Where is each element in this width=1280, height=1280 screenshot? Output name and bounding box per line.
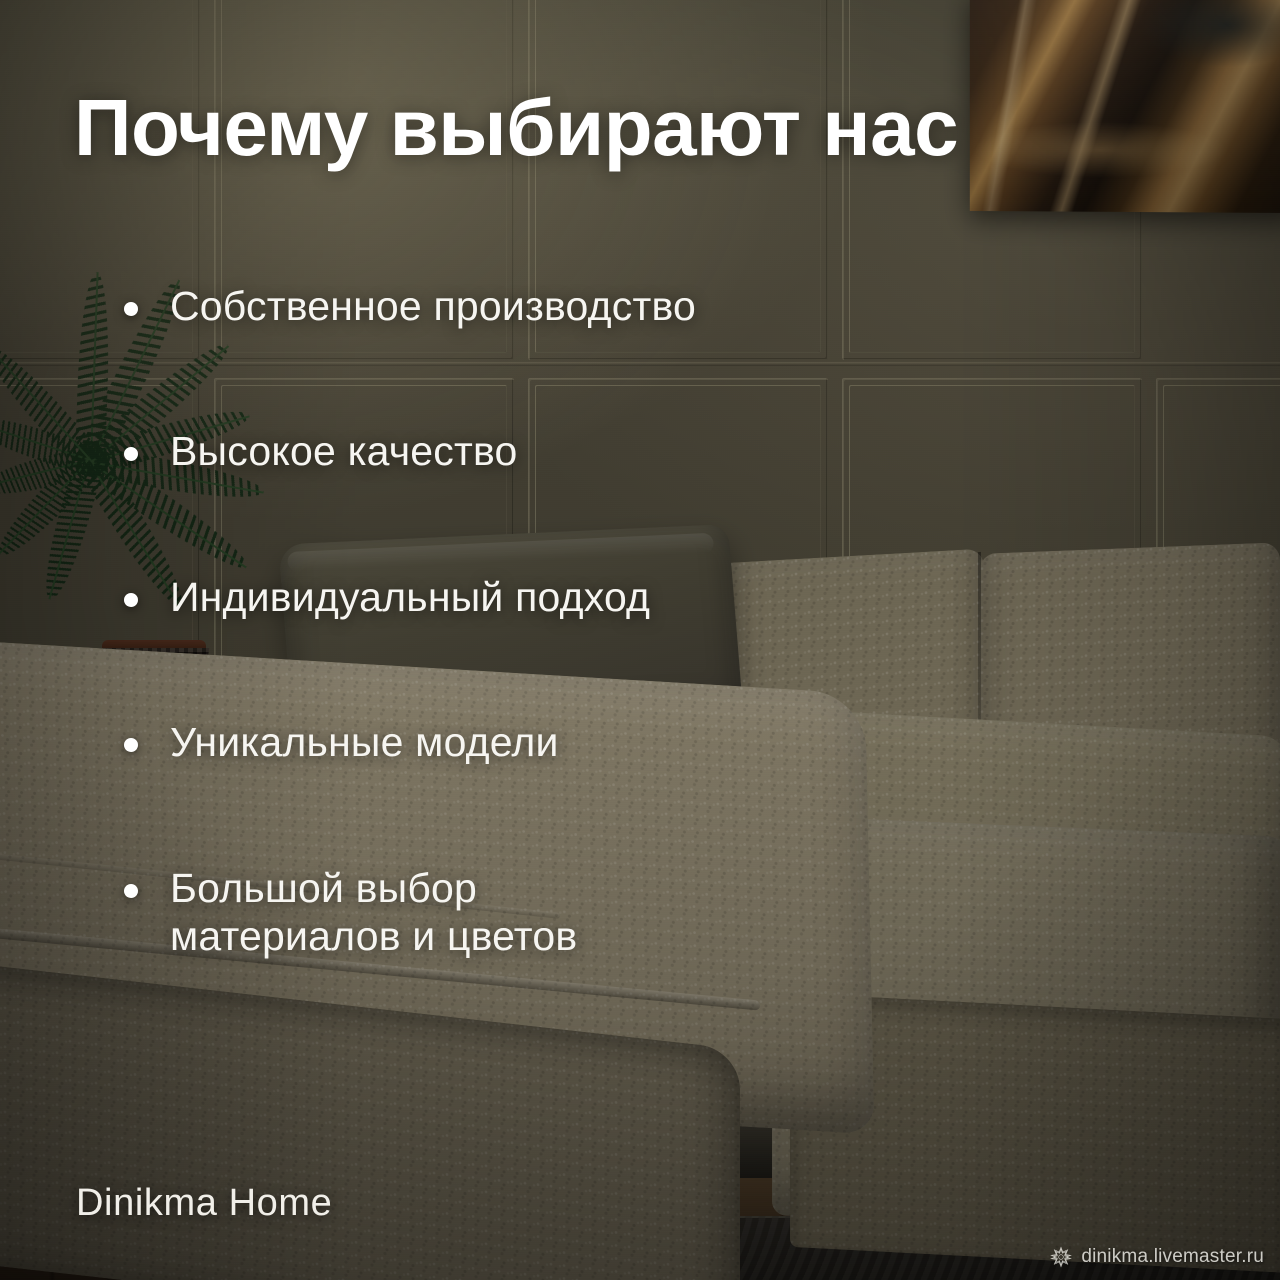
watermark-text: dinikma.livemaster.ru: [1081, 1246, 1264, 1268]
bullet-dot-icon: [124, 738, 138, 752]
list-item-label: Высокое качество: [170, 427, 517, 475]
benefits-list: Собственное производство Высокое качеств…: [124, 282, 924, 960]
promo-banner: Почему выбирают нас Собственное производ…: [0, 0, 1280, 1280]
list-item-label: Уникальные модели: [170, 718, 559, 766]
list-item: Большой выбор материалов и цветов: [124, 864, 924, 961]
brand-name: Dinikma Home: [76, 1182, 332, 1225]
list-item: Индивидуальный подход: [124, 573, 924, 621]
list-item-label: Индивидуальный подход: [170, 573, 650, 621]
watermark: dinikma.livemaster.ru: [1050, 1246, 1264, 1268]
list-item: Собственное производство: [124, 282, 924, 330]
text-overlay: Почему выбирают нас Собственное производ…: [0, 0, 1280, 1280]
list-item-label: Собственное производство: [170, 282, 696, 330]
bullet-dot-icon: [124, 447, 138, 461]
bullet-dot-icon: [124, 593, 138, 607]
bullet-dot-icon: [124, 884, 138, 898]
list-item: Уникальные модели: [124, 718, 924, 766]
bullet-dot-icon: [124, 302, 138, 316]
page-title: Почему выбирают нас: [74, 88, 958, 168]
star-rosette-icon: [1050, 1246, 1072, 1268]
list-item-label: Большой выбор материалов и цветов: [170, 864, 577, 961]
list-item: Высокое качество: [124, 427, 924, 475]
